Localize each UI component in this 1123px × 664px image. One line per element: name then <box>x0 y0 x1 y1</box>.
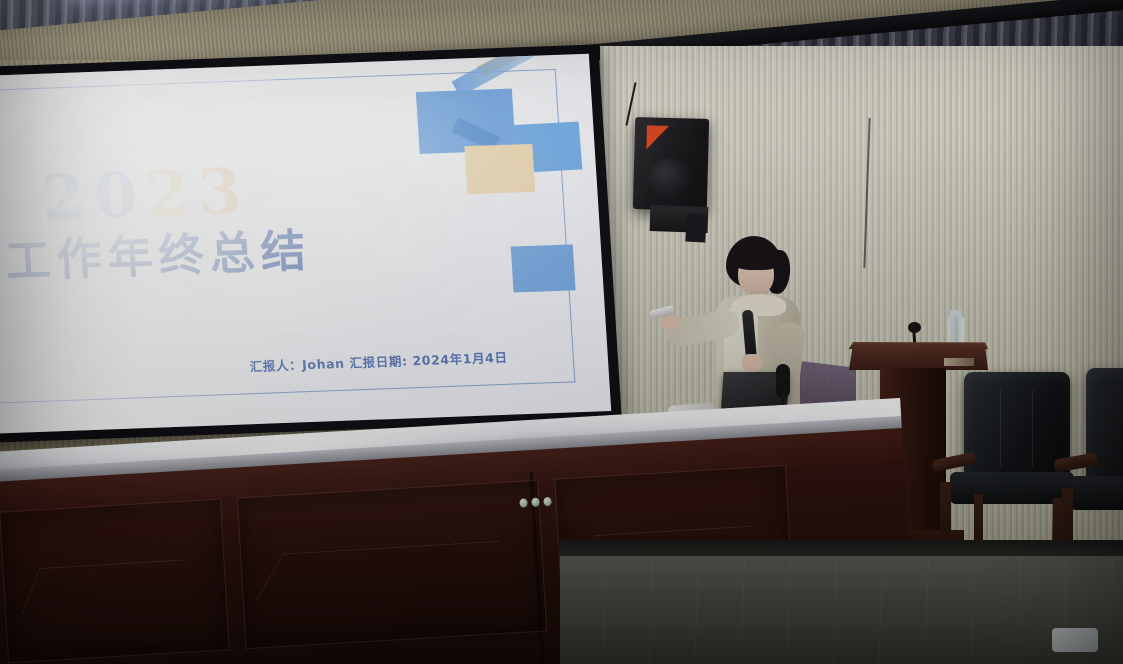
grey-tile-floor <box>560 556 1123 664</box>
presenter-bangs <box>732 250 780 270</box>
conference-room-photo: 2023 部工作年终总结 汇报人：Johan 汇报日期: 2024年1月4日 <box>0 0 1123 664</box>
presenter-collar <box>732 294 786 316</box>
chair-back-seam-2 <box>1032 390 1033 466</box>
floor-paper-scrap <box>1052 628 1098 652</box>
desk-knob-3 <box>543 497 552 506</box>
presenter-hand-mic <box>742 354 762 371</box>
chair2-backrest <box>1086 368 1123 486</box>
projection-screen[interactable]: 2023 部工作年终总结 汇报人：Johan 汇报日期: 2024年1月4日 <box>0 44 622 443</box>
desk-knobs[interactable] <box>519 497 554 509</box>
black-wall-speaker <box>633 117 709 211</box>
desk-knob-2 <box>531 498 540 507</box>
amber-rect-1 <box>464 144 535 194</box>
speaker-cone <box>647 157 692 202</box>
speaker-logo-icon <box>646 125 669 150</box>
slide-title: 部工作年终总结 <box>0 214 313 292</box>
podium-top <box>846 344 988 370</box>
slide-surface: 2023 部工作年终总结 汇报人：Johan 汇报日期: 2024年1月4日 <box>0 54 611 434</box>
chair2-seat <box>1070 476 1123 510</box>
chair-back-seam <box>1000 390 1001 466</box>
podium-nameplate <box>944 358 974 366</box>
blue-rect-3 <box>511 244 576 292</box>
desk-knob-1 <box>519 498 528 507</box>
